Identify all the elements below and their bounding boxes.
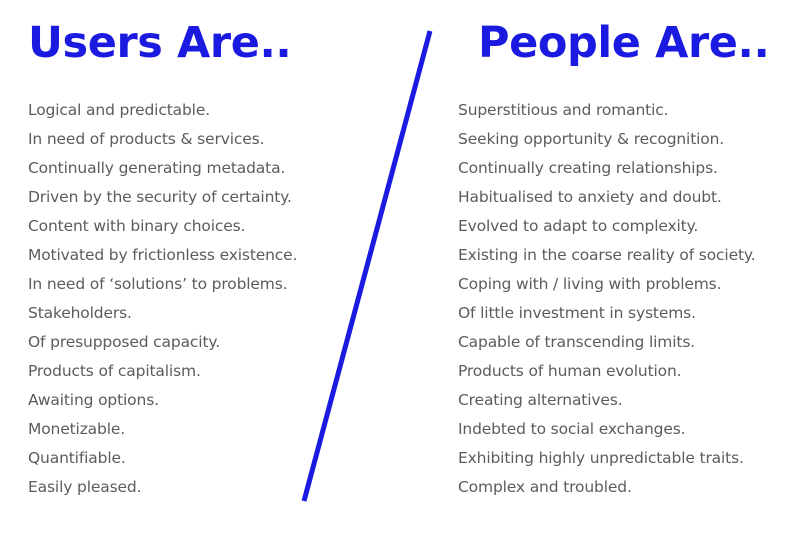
list-item: Evolved to adapt to complexity.	[458, 212, 755, 241]
list-item: Monetizable.	[28, 415, 297, 444]
list-item: Awaiting options.	[28, 386, 297, 415]
list-item: Creating alternatives.	[458, 386, 755, 415]
list-item: In need of products & services.	[28, 125, 297, 154]
list-item: Content with binary choices.	[28, 212, 297, 241]
list-item: In need of ‘solutions’ to problems.	[28, 270, 297, 299]
users-attribute-list: Logical and predictable. In need of prod…	[28, 96, 297, 502]
list-item: Driven by the security of certainty.	[28, 183, 297, 212]
list-item: Coping with / living with problems.	[458, 270, 755, 299]
list-item: Easily pleased.	[28, 473, 297, 502]
comparison-slide: Users Are.. Logical and predictable. In …	[0, 0, 800, 535]
list-item: Products of capitalism.	[28, 357, 297, 386]
list-item: Continually generating metadata.	[28, 154, 297, 183]
list-item: Capable of transcending limits.	[458, 328, 755, 357]
list-item: Motivated by frictionless existence.	[28, 241, 297, 270]
list-item: Products of human evolution.	[458, 357, 755, 386]
list-item: Of little investment in systems.	[458, 299, 755, 328]
list-item: Continually creating relationships.	[458, 154, 755, 183]
list-item: Superstitious and romantic.	[458, 96, 755, 125]
people-attribute-list: Superstitious and romantic. Seeking oppo…	[458, 96, 755, 502]
list-item: Indebted to social exchanges.	[458, 415, 755, 444]
list-item: Exhibiting highly unpredictable traits.	[458, 444, 755, 473]
list-item: Habitualised to anxiety and doubt.	[458, 183, 755, 212]
list-item: Of presupposed capacity.	[28, 328, 297, 357]
list-item: Seeking opportunity & recognition.	[458, 125, 755, 154]
list-item: Logical and predictable.	[28, 96, 297, 125]
list-item: Quantifiable.	[28, 444, 297, 473]
list-item: Existing in the coarse reality of societ…	[458, 241, 755, 270]
people-column-title: People Are..	[478, 22, 769, 65]
list-item: Complex and troubled.	[458, 473, 755, 502]
users-column-title: Users Are..	[28, 22, 291, 65]
list-item: Stakeholders.	[28, 299, 297, 328]
